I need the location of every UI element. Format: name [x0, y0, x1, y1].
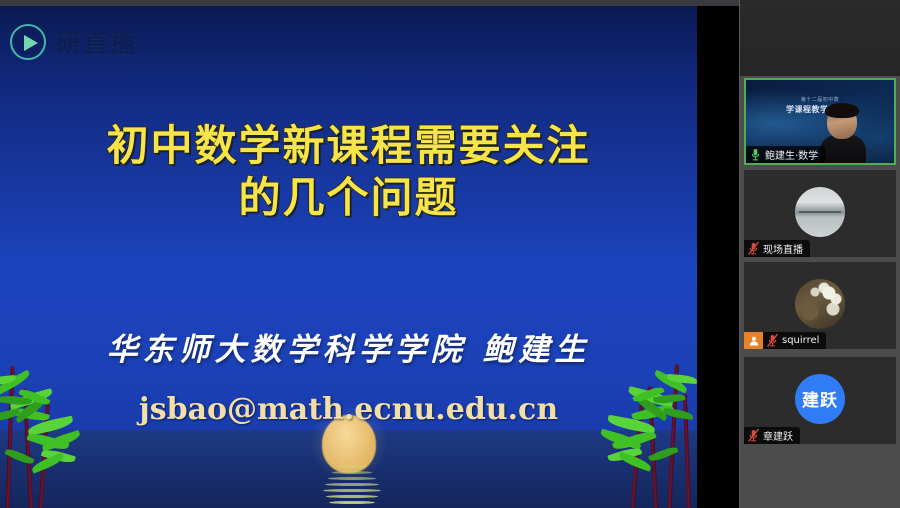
slide-title-line-1: 初中数学新课程需要关注	[0, 120, 697, 172]
bamboo-leaf	[653, 370, 689, 394]
participant-name: squirrel	[782, 335, 819, 346]
microphone-muted-icon[interactable]	[748, 429, 759, 442]
participant-tile[interactable]: 第十二届初中数学课程教学研讨会鲍建生·数学	[744, 78, 896, 165]
video-banner-line-1: 第十二届初中数	[750, 96, 890, 105]
participant-name: 鲍建生·数学	[765, 147, 818, 162]
bamboo-leaf	[667, 374, 697, 384]
presenter-figure	[820, 105, 866, 163]
microphone-icon[interactable]	[750, 148, 761, 161]
presenter-body	[820, 135, 866, 163]
participant-tile[interactable]: squirrel	[744, 262, 896, 349]
slide-email: jsbao@math.ecnu.edu.cn	[0, 392, 697, 427]
participant-strip-header	[740, 0, 900, 76]
shared-screen-stage: 研直播 初中数学新课程需要关注 的几个问题 华东师大数学科学学院 鲍建生 jsb…	[0, 6, 740, 508]
slide-title-line-2: 的几个问题	[0, 172, 697, 224]
participant-name-strip: 章建跃	[744, 427, 800, 444]
participant-name: 现场直播	[763, 241, 803, 256]
microphone-muted-icon[interactable]	[748, 242, 759, 255]
slide-title: 初中数学新课程需要关注 的几个问题	[0, 120, 697, 224]
participant-strip[interactable]: 第十二届初中数学课程教学研讨会鲍建生·数学现场直播squirrel建跃章建跃	[739, 0, 900, 508]
host-person-icon	[744, 332, 763, 349]
avatar	[795, 279, 845, 329]
participant-tile[interactable]: 建跃章建跃	[744, 357, 896, 444]
avatar: 建跃	[795, 374, 845, 424]
slide-author: 华东师大数学科学学院 鲍建生	[0, 324, 697, 369]
participant-name-strip: squirrel	[763, 332, 826, 349]
presenter-hair	[825, 103, 859, 118]
avatar	[795, 187, 845, 237]
participant-name-strip: 鲍建生·数学	[746, 146, 825, 163]
participant-name-strip: 现场直播	[744, 240, 810, 257]
participant-name: 章建跃	[763, 428, 793, 443]
brand-label: 研直播	[56, 24, 137, 60]
bamboo-leaf	[0, 375, 16, 386]
sun-reflection	[0, 460, 697, 508]
microphone-muted-icon[interactable]	[767, 334, 778, 347]
stream-watermark: 研直播	[10, 24, 137, 60]
presentation-slide: 研直播 初中数学新课程需要关注 的几个问题 华东师大数学科学学院 鲍建生 jsb…	[0, 6, 697, 508]
play-circle-icon	[10, 24, 46, 60]
live-stream-window: 研直播 初中数学新课程需要关注 的几个问题 华东师大数学科学学院 鲍建生 jsb…	[0, 0, 900, 508]
participant-tile[interactable]: 现场直播	[744, 170, 896, 257]
